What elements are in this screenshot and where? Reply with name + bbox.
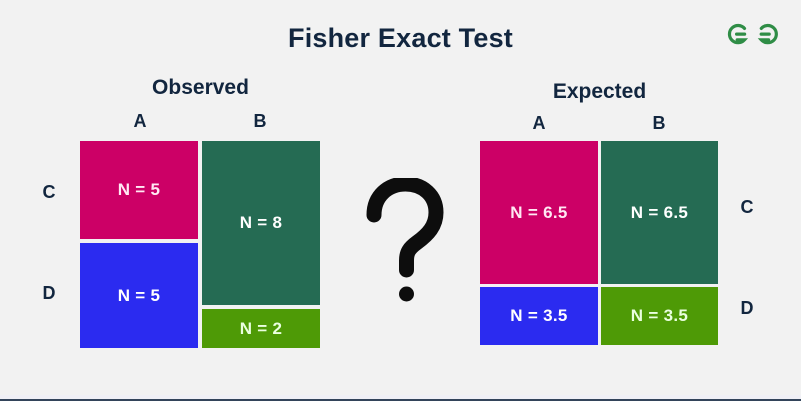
expected-cell-a-d: N = 3.5: [480, 287, 598, 345]
expected-cell-b-d-label: N = 3.5: [631, 306, 688, 326]
expected-cell-b-c: N = 6.5: [601, 141, 718, 284]
observed-cell-a-c: N = 5: [80, 141, 198, 239]
question-mark-icon: [360, 178, 450, 304]
expected-cell-b-c-label: N = 6.5: [631, 203, 688, 223]
observed-cell-a-c-label: N = 5: [118, 180, 161, 200]
expected-row-header-c: C: [733, 197, 761, 218]
observed-cell-a-d: N = 5: [80, 243, 198, 348]
observed-column-header-a: A: [125, 111, 155, 132]
expected-cell-a-c-label: N = 6.5: [510, 203, 567, 223]
observed-table-caption: Observed: [108, 76, 293, 100]
observed-cell-b-c-label: N = 8: [240, 213, 283, 233]
observed-cell-a-d-label: N = 5: [118, 286, 161, 306]
expected-table-caption: Expected: [507, 80, 692, 104]
expected-cell-a-c: N = 6.5: [480, 141, 598, 284]
expected-column-header-b: B: [644, 113, 674, 134]
page-title: Fisher Exact Test: [0, 23, 801, 54]
observed-row-header-d: D: [35, 283, 63, 304]
observed-column-header-b: B: [245, 111, 275, 132]
geeksforgeeks-gg-logo-icon: [724, 18, 782, 50]
expected-cell-b-d: N = 3.5: [601, 287, 718, 345]
slide-canvas: Fisher Exact Test Observed A B C D N = 5…: [0, 0, 801, 401]
observed-cell-b-d: N = 2: [202, 309, 320, 348]
expected-column-header-a: A: [524, 113, 554, 134]
observed-row-header-c: C: [35, 182, 63, 203]
observed-cell-b-c: N = 8: [202, 141, 320, 305]
expected-cell-a-d-label: N = 3.5: [510, 306, 567, 326]
observed-cell-b-d-label: N = 2: [240, 319, 283, 339]
expected-row-header-d: D: [733, 298, 761, 319]
